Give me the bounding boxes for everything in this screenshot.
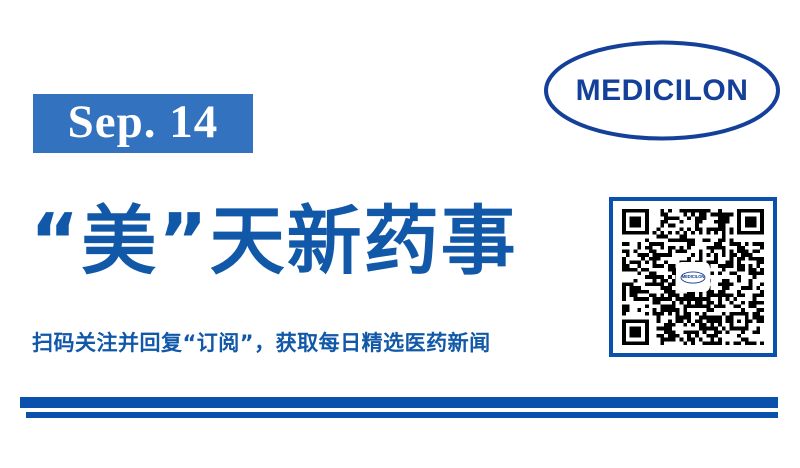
promo-banner: Sep. 14 MEDICILON “美”天新药事 扫码关注并回复“订阅”，获取…: [0, 0, 800, 468]
qr-center-logo: MEDICILON: [676, 262, 710, 292]
qr-code-frame[interactable]: MEDICILON: [609, 197, 777, 357]
date-badge: Sep. 14: [33, 94, 253, 153]
subtitle-instruction: 扫码关注并回复“订阅”，获取每日精选医药新闻: [32, 328, 592, 358]
qr-center-logo-label: MEDICILON: [682, 275, 705, 279]
divider-thick-rule: [20, 397, 778, 408]
medicilon-logo-label: MEDICILON: [543, 40, 781, 141]
headline-title: “美”天新药事: [30, 186, 590, 296]
divider-thin-rule: [26, 412, 778, 418]
qr-code-image[interactable]: MEDICILON: [622, 209, 764, 345]
medicilon-logo: MEDICILON: [543, 40, 781, 141]
date-badge-label: Sep. 14: [68, 99, 219, 146]
